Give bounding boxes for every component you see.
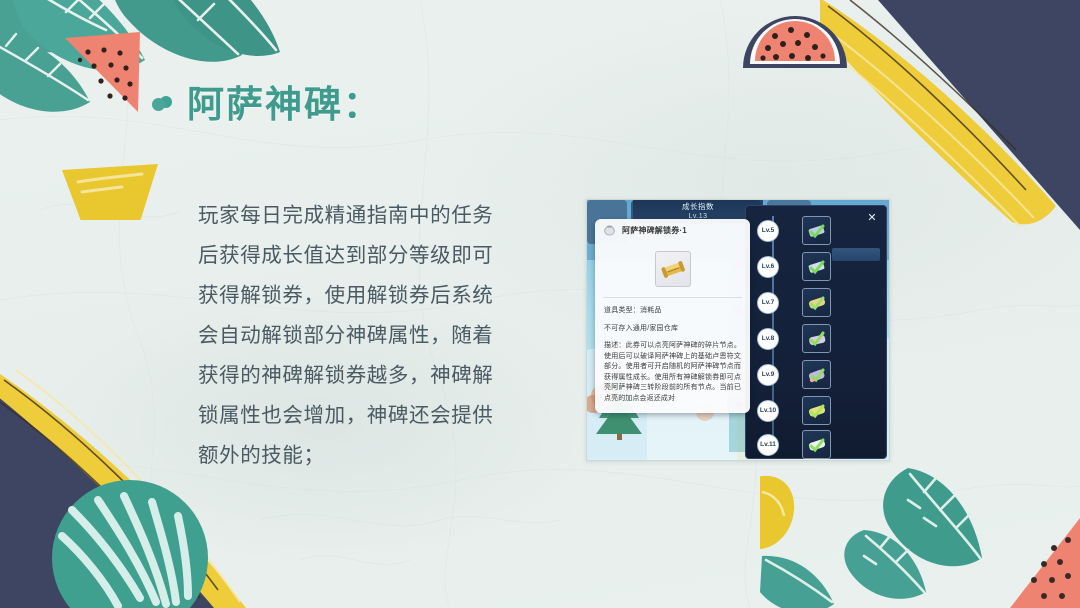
level-badge: Lv.7 xyxy=(758,293,778,313)
growth-index-title: 成长指数 xyxy=(633,202,763,212)
slide-canvas: 阿萨神碑： 玩家每日完成精通指南中的任务后获得成长值达到部分等级即可获得解锁券，… xyxy=(0,0,1080,608)
tooltip-body: 道具类型：消耗品 不可存入通用/家园仓库 描述：此券可以点亮阿萨神碑的碎片节点。… xyxy=(595,298,750,413)
level-badge: Lv.10 xyxy=(758,401,778,421)
pouch-icon xyxy=(603,224,616,237)
reward-level-row[interactable]: Lv.9 xyxy=(758,358,884,391)
level-badge: Lv.9 xyxy=(758,365,778,385)
level-badge: Lv.5 xyxy=(758,221,778,241)
item-storage-line: 不可存入通用/家园仓库 xyxy=(604,323,741,333)
scroll-green-icon[interactable] xyxy=(802,252,831,281)
item-description: 描述：此券可以点亮阿萨神碑的碎片节点。使用后可以破译阿萨神碑上的基础卢恩符文部分… xyxy=(604,341,741,404)
page-heading: 阿萨神碑： xyxy=(152,74,382,128)
scroll-violet-icon[interactable] xyxy=(802,360,831,389)
reward-level-row[interactable]: Lv.11 xyxy=(758,428,884,461)
body-paragraph: 玩家每日完成精通指南中的任务后获得成长值达到部分等级即可获得解锁券，使用解锁券后… xyxy=(198,196,498,476)
decor-top-right-corner xyxy=(820,0,1080,230)
reward-level-row[interactable]: Lv.8 xyxy=(758,322,884,355)
item-type-line: 道具类型：消耗品 xyxy=(604,305,741,315)
scroll-purple-icon[interactable] xyxy=(802,324,831,353)
reward-level-row[interactable]: Lv.5 xyxy=(758,214,884,247)
scroll-gold-icon[interactable] xyxy=(802,288,831,317)
reward-level-row[interactable]: Lv.6 xyxy=(758,250,884,283)
game-screenshot: 成长指数 Lv.13 荒芜之地的祥 开启获得 x20 荒芜之地的置 开启获得 x… xyxy=(586,199,890,461)
striped-teal-melon xyxy=(52,480,208,608)
reward-level-row[interactable]: Lv.7 xyxy=(758,286,884,319)
level-badge: Lv.11 xyxy=(758,435,778,455)
watermelon-triangle-yellow xyxy=(62,164,158,220)
level-badge: Lv.8 xyxy=(758,329,778,349)
level-badge: Lv.6 xyxy=(758,257,778,277)
bullet-icon xyxy=(152,98,165,111)
decor-watermelon-slice-top xyxy=(735,2,855,87)
reward-level-row[interactable]: Lv.10 xyxy=(758,394,884,427)
page-title: 阿萨神碑： xyxy=(187,74,382,128)
scroll-blue-icon[interactable] xyxy=(802,216,831,245)
watermelon-triangle-pink xyxy=(65,32,140,112)
reward-panel: ✕ Lv.5 Lv.6 Lv.7 xyxy=(745,205,887,459)
tooltip-header: 阿萨神碑解锁券·1 xyxy=(595,219,750,241)
scroll-yellow-icon[interactable] xyxy=(802,396,831,425)
scroll-white-icon[interactable] xyxy=(802,430,831,459)
tooltip-item-icon-area xyxy=(595,241,750,297)
golden-scroll-icon xyxy=(655,251,691,287)
tooltip-title: 阿萨神碑解锁券·1 xyxy=(622,225,687,236)
item-tooltip: 阿萨神碑解锁券·1 道具类型：消 xyxy=(595,219,750,413)
